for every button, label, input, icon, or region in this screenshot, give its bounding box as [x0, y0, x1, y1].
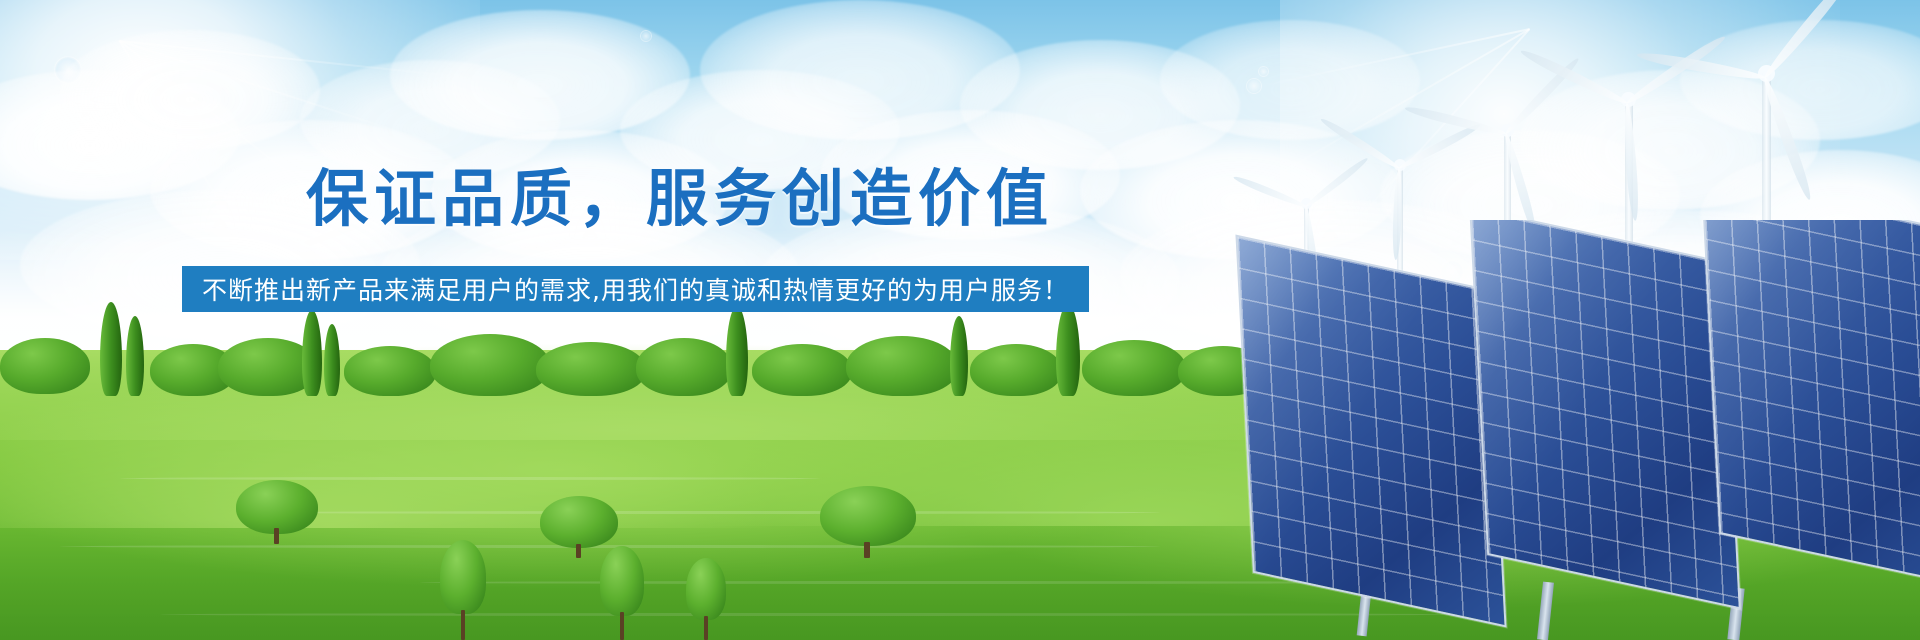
solar-panel — [1235, 235, 1506, 628]
solar-panel — [1701, 220, 1920, 591]
subtitle-text: 不断推出新产品来满足用户的需求,用我们的真诚和热情更好的为用户服务！ — [202, 271, 1069, 307]
page-title: 保证品质，服务创造价值 — [306, 168, 1054, 230]
solar-panel-array — [1210, 220, 1920, 640]
solar-panel — [1469, 220, 1741, 610]
hero-banner: 保证品质，服务创造价值 不断推出新产品来满足用户的需求,用我们的真诚和热情更好的… — [0, 0, 1920, 640]
subtitle-ribbon: 不断推出新产品来满足用户的需求,用我们的真诚和热情更好的为用户服务！ — [182, 266, 1089, 312]
